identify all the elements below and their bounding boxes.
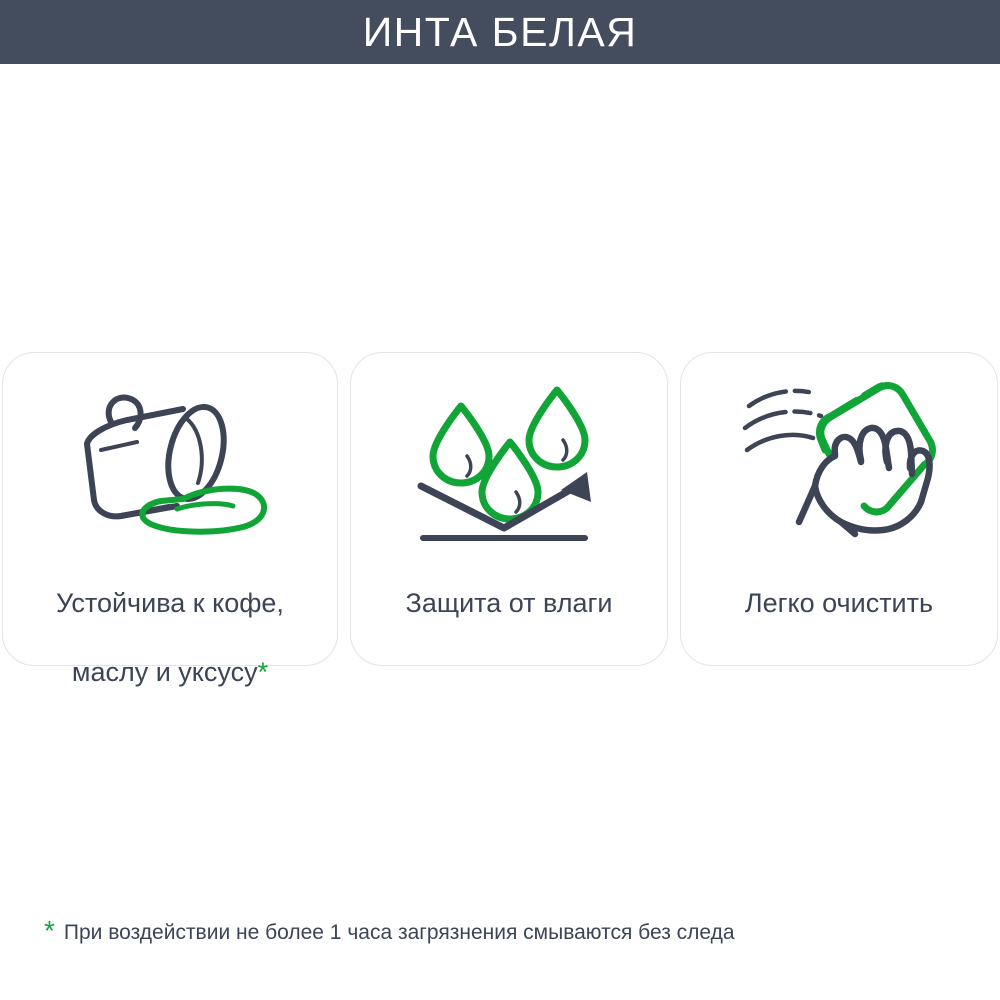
feature-card-easy-to-clean[interactable]: Легко очистить: [680, 352, 998, 666]
feature-label-line2: маслу и уксусу: [72, 657, 258, 687]
header-bar: ИНТА БЕЛАЯ: [0, 0, 1000, 64]
feature-card-label: Устойчива к кофе, маслу и уксусу*: [3, 551, 337, 689]
hand-wiping-cloth-icon: [737, 387, 942, 537]
feature-card-moisture-protection[interactable]: Защита от влаги: [350, 352, 668, 666]
footnote-asterisk-icon: *: [44, 918, 55, 944]
water-repellent-droplets-icon: [409, 387, 609, 537]
footnote: * При воздействии не более 1 часа загряз…: [44, 918, 735, 948]
feature-card-stain-resistant[interactable]: Устойчива к кофе, маслу и уксусу*: [2, 352, 338, 666]
feature-card-label: Защита от влаги: [351, 551, 667, 620]
feature-label-line1: Легко очистить: [745, 588, 933, 618]
spilled-mug-icon: [65, 387, 275, 537]
feature-label-line1: Защита от влаги: [406, 588, 613, 618]
footnote-text: При воздействии не более 1 часа загрязне…: [64, 918, 735, 948]
label-asterisk: *: [258, 657, 269, 687]
feature-cards-strip: Устойчива к кофе, маслу и уксусу*: [2, 352, 998, 666]
page-title: ИНТА БЕЛАЯ: [363, 12, 638, 53]
feature-card-label: Легко очистить: [681, 551, 997, 620]
feature-label-line1: Устойчива к кофе,: [56, 588, 284, 618]
